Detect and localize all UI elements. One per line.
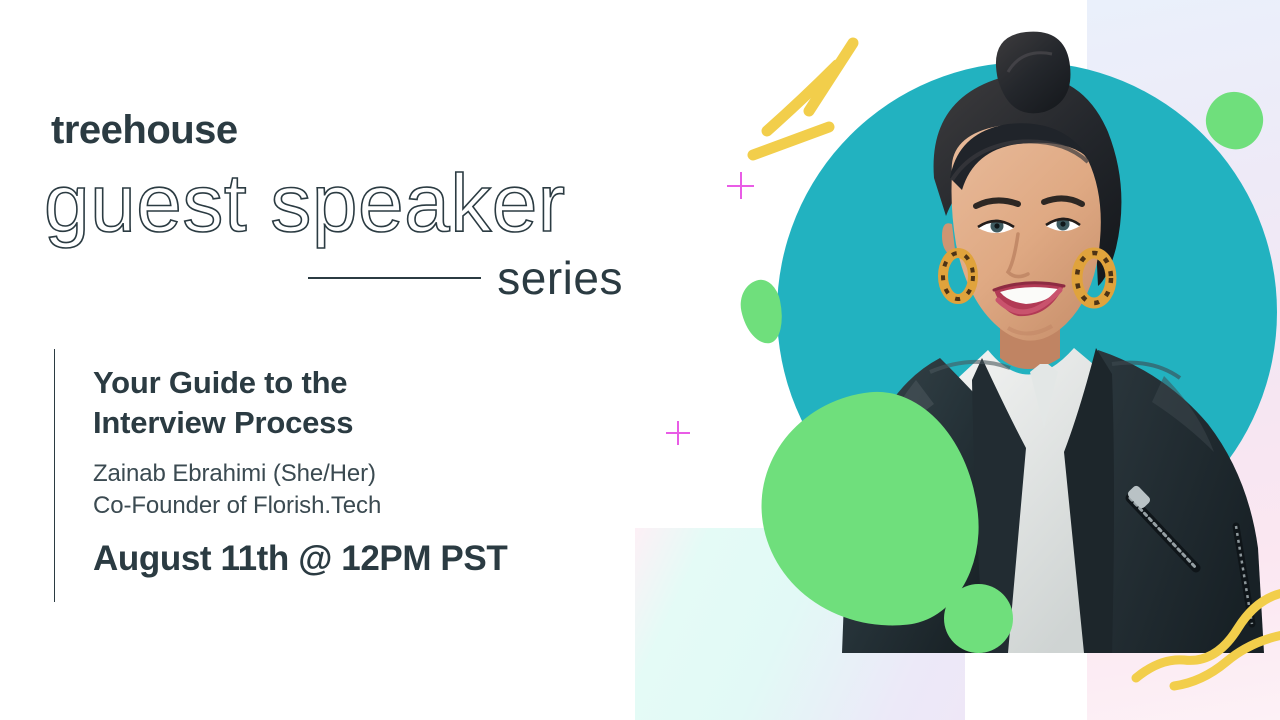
series-divider-rule: [308, 277, 481, 279]
headline-outline-text: guest speaker: [44, 163, 566, 245]
talk-title: Your Guide to the Interview Process: [93, 363, 507, 442]
speaker-role: Co-Founder of Florish.Tech: [93, 490, 507, 522]
talk-title-line-2: Interview Process: [93, 403, 507, 443]
plus-mark-icon-top: [727, 172, 754, 199]
green-dot-bottom-right: [944, 584, 1013, 653]
event-info-block: Your Guide to the Interview Process Zain…: [54, 349, 507, 602]
speaker-name: Zainab Ebrahimi (She/Her): [93, 458, 507, 490]
brand-wordmark: treehouse: [51, 110, 238, 150]
plus-mark-icon-middle: [666, 421, 690, 445]
guest-speaker-promo-slide: treehouse guest speaker series Your Guid…: [0, 0, 1280, 720]
event-datetime: August 11th @ 12PM PST: [93, 540, 507, 579]
series-label: series: [497, 255, 623, 301]
series-row: series: [308, 255, 623, 301]
talk-title-line-1: Your Guide to the: [93, 363, 507, 403]
